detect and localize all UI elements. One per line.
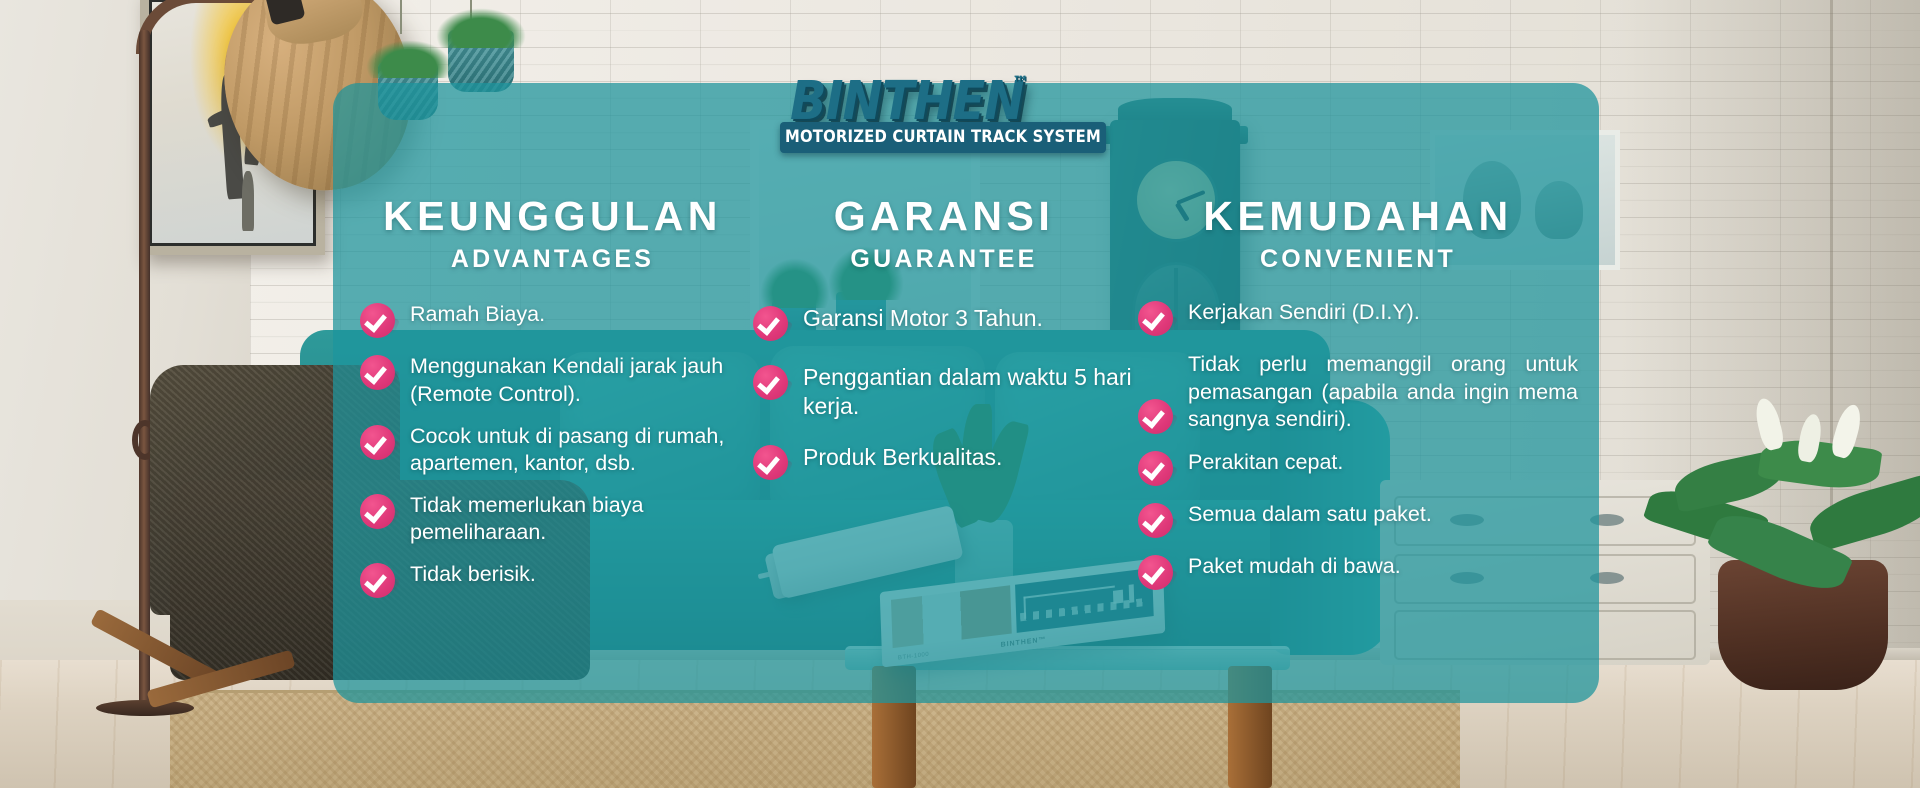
promo-overlay-panel: BINTHEN ™ MOTORIZED CURTAIN TRACK SYSTEM… [333, 83, 1599, 703]
list-item-label: Garansi Motor 3 Tahun. [803, 304, 1043, 333]
check-icon [1138, 555, 1173, 590]
list-item-label: Semua dalam satu paket. [1188, 501, 1432, 528]
check-icon-shadow [1148, 407, 1178, 431]
planter-hanger-rope [400, 0, 402, 34]
list-item-label: Produk Berkualitas. [803, 443, 1002, 472]
check-icon-shadow [370, 363, 400, 387]
list-item: Ramah Biaya. [360, 301, 745, 338]
guarantee-list: Garansi Motor 3 Tahun. Penggantian dalam… [753, 304, 1135, 480]
check-icon [1138, 301, 1173, 336]
list-item: Menggunakan Kendali jarak jauh (Remote C… [360, 353, 745, 407]
check-icon-shadow [763, 314, 793, 338]
check-icon-shadow [370, 501, 400, 525]
check-icon [753, 306, 788, 341]
check-icon [1138, 503, 1173, 538]
list-item-label: Tidak perlu memanggil orang untuk pemasa… [1188, 351, 1578, 432]
check-icon-shadow [763, 373, 793, 397]
column-heading-id: KEUNGGULAN [360, 195, 745, 238]
list-item: Semua dalam satu paket. [1138, 501, 1578, 538]
list-item: Kerjakan Sendiri (D.I.Y). [1138, 299, 1578, 336]
floor-lamp-pole [139, 30, 150, 710]
check-icon [360, 563, 395, 598]
list-item-label: Paket mudah di bawa. [1188, 553, 1401, 580]
check-icon-shadow [1148, 511, 1178, 535]
check-icon-shadow [1148, 309, 1178, 333]
list-item: Tidak memerlukan biaya pemeliharaan. [360, 492, 745, 546]
check-icon-shadow [370, 432, 400, 456]
list-item: Produk Berkualitas. [753, 443, 1135, 480]
column-advantages: KEUNGGULAN ADVANTAGES Ramah Biaya. Mengg… [360, 195, 745, 613]
check-icon-shadow [1148, 563, 1178, 587]
list-item-label: Perakitan cepat. [1188, 449, 1343, 476]
check-icon [753, 365, 788, 400]
list-item-label: Tidak memerlukan biaya pemeliharaan. [410, 492, 745, 546]
list-item-label: Ramah Biaya. [410, 301, 545, 328]
check-icon [1138, 451, 1173, 486]
check-icon [360, 425, 395, 460]
column-heading-id: KEMUDAHAN [1138, 195, 1578, 238]
column-heading-en: ADVANTAGES [360, 245, 745, 274]
check-icon [753, 445, 788, 480]
list-item-label: Tidak berisik. [410, 561, 536, 588]
column-guarantee: GARANSI GUARANTEE Garansi Motor 3 Tahun.… [753, 195, 1135, 502]
list-item: Tidak berisik. [360, 561, 745, 598]
list-item-label: Cocok untuk di pasang di rumah, aparteme… [410, 423, 745, 477]
armchair-legs [86, 640, 336, 770]
list-item-label: Menggunakan Kendali jarak jauh (Remote C… [410, 353, 745, 407]
hanging-plant-leaves [366, 40, 452, 78]
check-icon [360, 355, 395, 390]
painting-figure [242, 171, 254, 231]
advantages-list: Ramah Biaya. Menggunakan Kendali jarak j… [360, 301, 745, 597]
column-heading-id: GARANSI [753, 195, 1135, 238]
list-item-label: Penggantian dalam waktu 5 hari kerja. [803, 363, 1135, 421]
column-heading-en: CONVENIENT [1138, 245, 1578, 274]
check-icon-shadow [763, 453, 793, 477]
list-item: Garansi Motor 3 Tahun. [753, 304, 1135, 341]
list-item: Paket mudah di bawa. [1138, 553, 1578, 590]
peace-lily-plant [1640, 420, 1920, 600]
convenient-list: Kerjakan Sendiri (D.I.Y). Tidak perlu me… [1138, 299, 1578, 590]
check-icon-shadow [370, 311, 400, 335]
check-icon-shadow [370, 571, 400, 595]
check-icon [1138, 399, 1173, 434]
list-item: Tidak perlu memanggil orang untuk pemasa… [1138, 351, 1578, 434]
column-convenient: KEMUDAHAN CONVENIENT Kerjakan Sendiri (D… [1138, 195, 1578, 605]
column-heading-en: GUARANTEE [753, 245, 1135, 274]
check-icon [360, 494, 395, 529]
list-item: Cocok untuk di pasang di rumah, aparteme… [360, 423, 745, 477]
list-item-label: Kerjakan Sendiri (D.I.Y). [1188, 299, 1420, 326]
list-item: Penggantian dalam waktu 5 hari kerja. [753, 363, 1135, 421]
list-item: Perakitan cepat. [1138, 449, 1578, 486]
check-icon-shadow [1148, 459, 1178, 483]
check-icon [360, 303, 395, 338]
